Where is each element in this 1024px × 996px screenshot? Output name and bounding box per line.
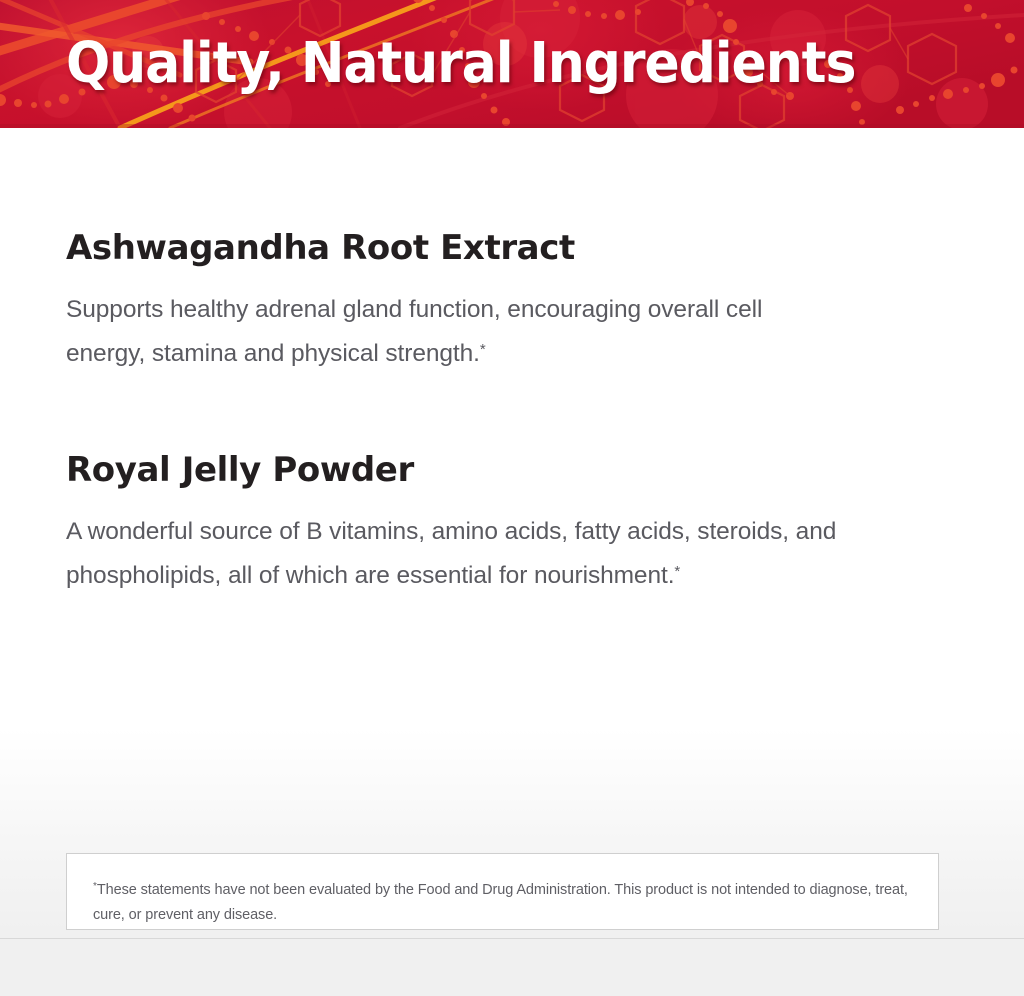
ingredient-item-royal-jelly: Royal Jelly Powder A wonderful source of…	[66, 450, 946, 596]
footer-surface	[0, 938, 1024, 996]
ingredient-description: Supports healthy adrenal gland function,…	[66, 290, 826, 374]
ingredient-description-text: Supports healthy adrenal gland function,…	[66, 296, 762, 367]
page-title: Quality, Natural Ingredients	[66, 30, 903, 98]
ingredient-title: Ashwagandha Root Extract	[66, 228, 946, 268]
fda-disclaimer-box: *These statements have not been evaluate…	[66, 853, 939, 930]
ingredient-description-text: A wonderful source of B vitamins, amino …	[66, 518, 836, 589]
fda-disclaimer-text: *These statements have not been evaluate…	[67, 854, 938, 928]
ingredient-item-ashwagandha: Ashwagandha Root Extract Supports health…	[66, 228, 946, 374]
fda-disclaimer-body: These statements have not been evaluated…	[93, 882, 908, 923]
ingredient-description: A wonderful source of B vitamins, amino …	[66, 512, 886, 596]
ingredient-title: Royal Jelly Powder	[66, 450, 946, 490]
ingredients-panel: Quality, Natural Ingredients Ashwagandha…	[0, 0, 1024, 995]
ingredient-list: Ashwagandha Root Extract Supports health…	[66, 228, 946, 596]
footnote-marker-icon: *	[674, 563, 680, 580]
footnote-marker-icon: *	[480, 341, 486, 358]
header-banner: Quality, Natural Ingredients	[0, 0, 1024, 128]
